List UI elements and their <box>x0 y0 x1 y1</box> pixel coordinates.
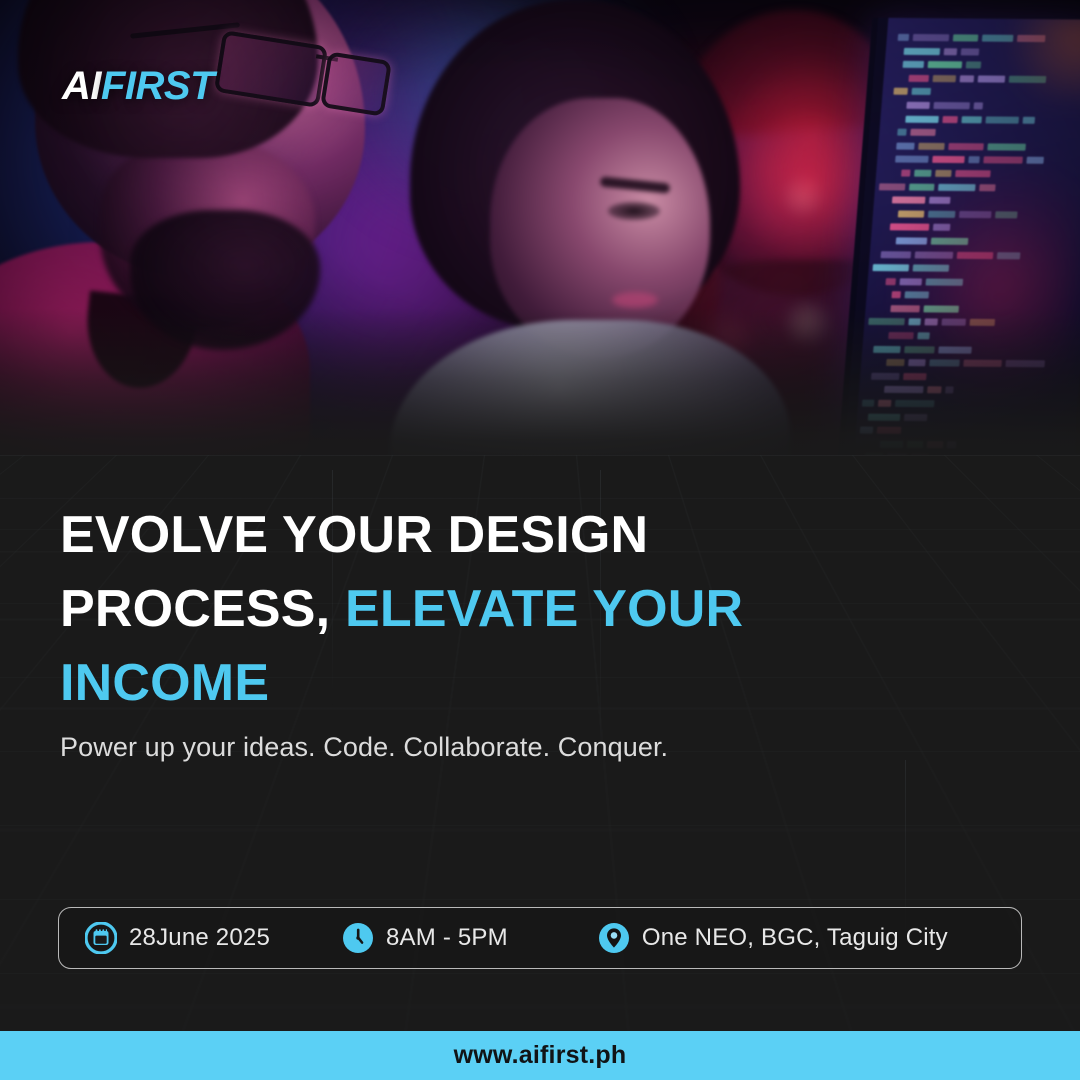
location-pin-icon <box>598 922 630 954</box>
calendar-icon <box>85 922 117 954</box>
subheadline: Power up your ideas. Code. Collaborate. … <box>60 732 668 763</box>
event-time-label: 8AM - 5PM <box>386 924 508 952</box>
headline-line-3-accent: INCOME <box>60 654 269 712</box>
event-poster: AIFIRST EVOLVE YOUR DESIGN PROCESS, ELEV… <box>0 0 1080 1080</box>
event-date-item[interactable]: 28June 2025 <box>59 908 270 968</box>
event-date-label: 28June 2025 <box>129 924 270 952</box>
event-location-item[interactable]: One NEO, BGC, Taguig City <box>508 908 948 968</box>
logo-text-ai: AI <box>62 64 101 108</box>
logo-text-first: FIRST <box>101 64 214 108</box>
event-location-label: One NEO, BGC, Taguig City <box>642 924 948 952</box>
headline-line-2-white: PROCESS, <box>60 580 330 638</box>
website-url: www.aifirst.ph <box>454 1041 627 1070</box>
event-time-item[interactable]: 8AM - 5PM <box>270 908 508 968</box>
headline-line-1: EVOLVE YOUR DESIGN <box>60 506 648 564</box>
page-title: EVOLVE YOUR DESIGN PROCESS, ELEVATE YOUR… <box>60 498 960 720</box>
hero-bottom-fade <box>0 308 1080 478</box>
headline-line-2-accent: ELEVATE YOUR <box>345 580 743 638</box>
clock-icon <box>342 922 374 954</box>
event-details-bar: 28June 2025 8AM - 5PM One NEO, BGC, Tagu… <box>58 907 1022 969</box>
footer-bar[interactable]: www.aifirst.ph <box>0 1031 1080 1080</box>
brand-logo[interactable]: AIFIRST <box>62 64 214 109</box>
